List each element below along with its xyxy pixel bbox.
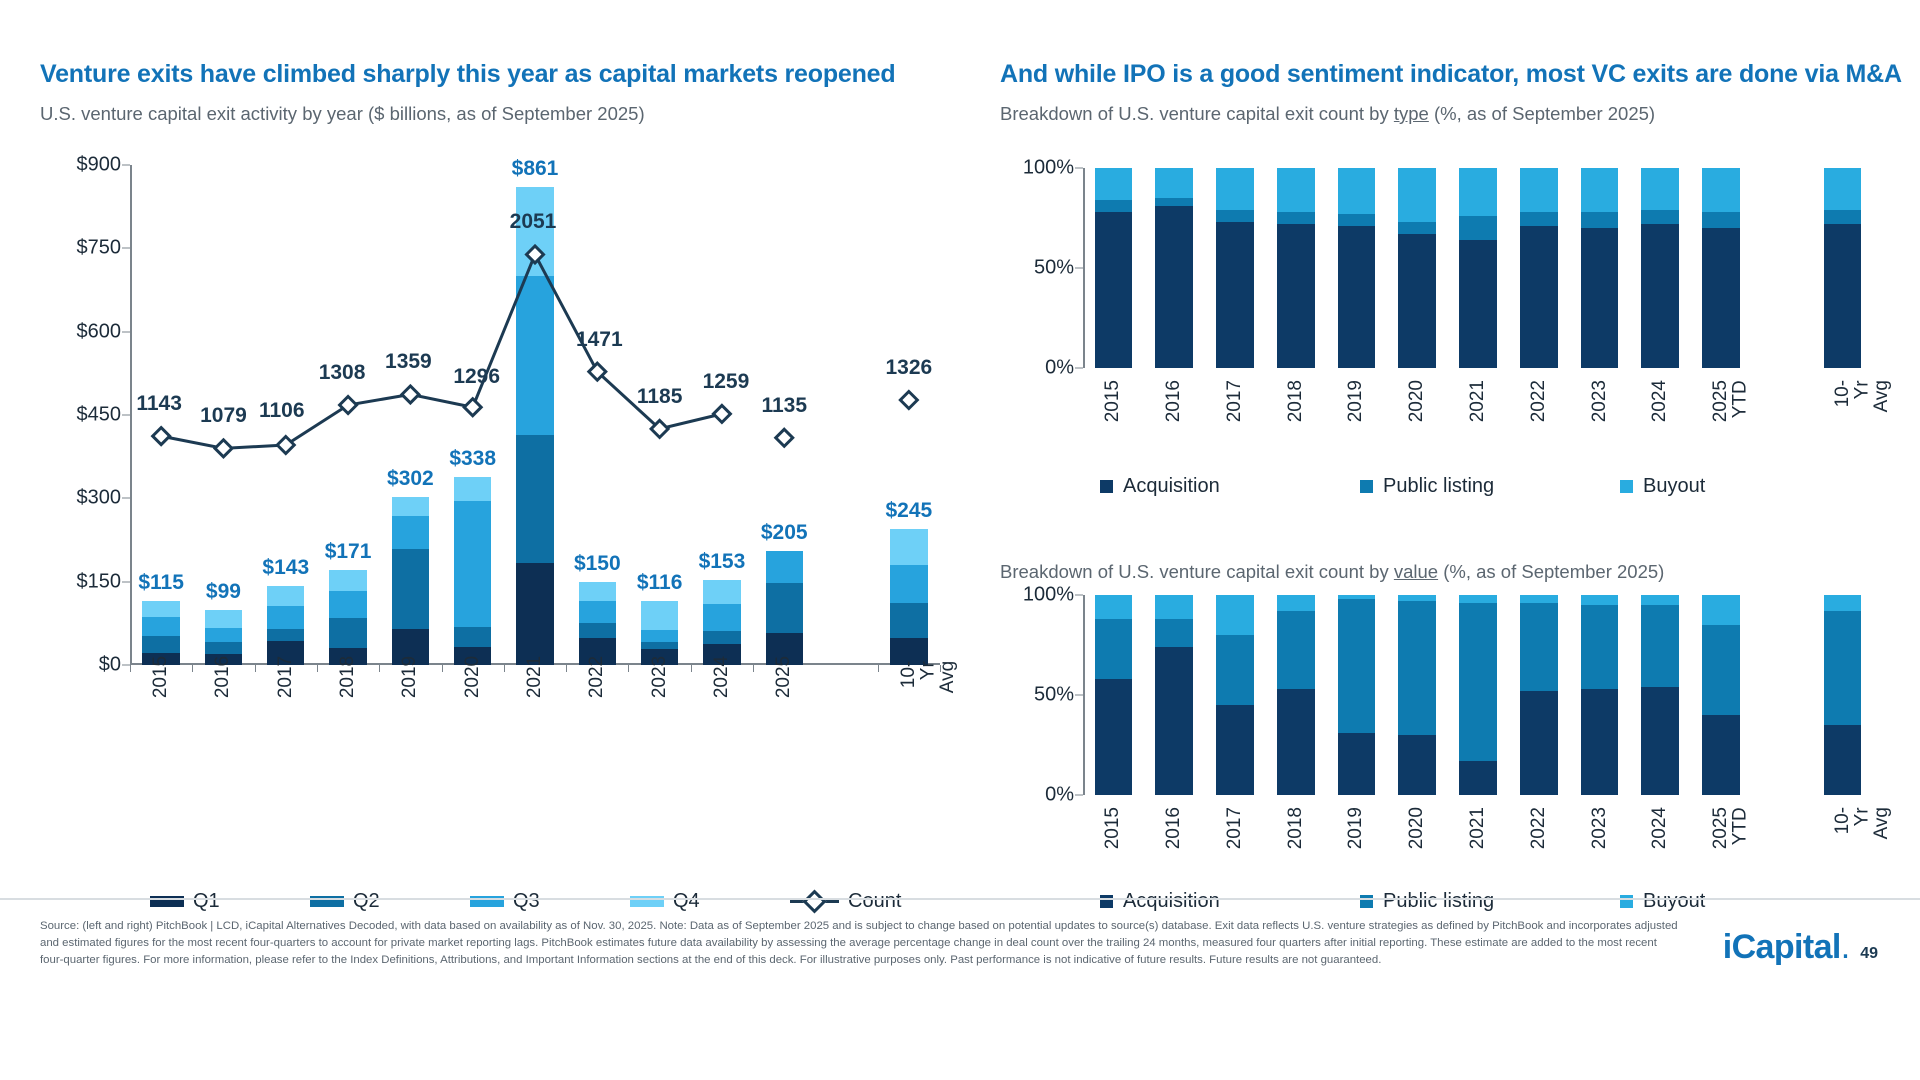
legend-label: Acquisition xyxy=(1123,890,1220,913)
bar-value-label: $143 xyxy=(262,556,309,580)
bar-segment-public-listing xyxy=(1216,635,1254,705)
y-tick xyxy=(122,248,130,249)
y-tick xyxy=(1075,268,1083,269)
bar-value-label: $150 xyxy=(574,552,621,576)
bar-segment-q2 xyxy=(766,583,803,632)
left-panel: Venture exits have climbed sharply this … xyxy=(40,60,970,890)
bar-segment-public-listing xyxy=(1155,619,1193,647)
left-chart-title: Venture exits have climbed sharply this … xyxy=(40,60,970,89)
x-axis-label: 2017 xyxy=(1225,807,1245,849)
bar-segment-acquisition xyxy=(1338,226,1376,368)
legend-label: Q1 xyxy=(193,890,220,913)
y-axis-line xyxy=(130,165,132,665)
bar-segment-q3 xyxy=(392,516,429,549)
bar-segment-buyout xyxy=(1155,168,1193,198)
bar xyxy=(1095,168,1133,368)
y-tick xyxy=(122,665,130,666)
bar-segment-public-listing xyxy=(1702,625,1740,715)
bar-segment-acquisition xyxy=(1581,689,1619,795)
subtitle-part-a: Breakdown of U.S. venture capital exit c… xyxy=(1000,561,1394,582)
bar-segment-public-listing xyxy=(1702,212,1740,228)
x-axis-label: 2018 xyxy=(1286,807,1306,849)
legend-swatch-public-listing xyxy=(1360,895,1373,908)
bar xyxy=(1641,595,1679,795)
bar-segment-buyout xyxy=(1824,168,1862,210)
bar-segment-public-listing xyxy=(1459,216,1497,240)
count-value-label: 1471 xyxy=(576,328,623,352)
x-axis-label: 2020 xyxy=(1407,380,1427,422)
bar-segment-buyout xyxy=(1095,168,1133,200)
bar-segment-acquisition xyxy=(1095,679,1133,795)
bar-segment-q2 xyxy=(205,642,242,654)
bar-segment-buyout xyxy=(1824,595,1862,611)
x-axis-label: 2023 xyxy=(650,656,670,698)
bar-segment-q2 xyxy=(329,618,366,648)
y-axis-label: 50% xyxy=(1034,257,1074,280)
legend-swatch-acquisition xyxy=(1100,895,1113,908)
bar-segment-buyout xyxy=(1702,168,1740,212)
count-value-label: 1326 xyxy=(885,356,932,380)
bar-segment-buyout xyxy=(1581,168,1619,212)
y-tick xyxy=(1075,368,1083,369)
bar-segment-buyout xyxy=(1338,595,1376,599)
x-axis-label: 2021 xyxy=(1468,380,1488,422)
bar-segment-public-listing xyxy=(1277,611,1315,689)
bar xyxy=(1338,595,1376,795)
bar xyxy=(1155,595,1193,795)
bar-segment-public-listing xyxy=(1095,200,1133,212)
bar-segment-public-listing xyxy=(1520,603,1558,691)
bar-segment-q4 xyxy=(329,570,366,591)
x-tick xyxy=(255,665,256,672)
bar xyxy=(1095,595,1133,795)
bar-segment-q3 xyxy=(703,604,740,631)
bar-segment-acquisition xyxy=(1641,687,1679,795)
bar-segment-q4 xyxy=(890,529,927,565)
x-axis-label: 2015 xyxy=(1103,380,1123,422)
bar xyxy=(1520,168,1558,368)
x-axis-label: 2016 xyxy=(1164,807,1184,849)
exit-count-by-value-chart: 0%50%100%2015201620172018201920202021202… xyxy=(1083,595,1873,795)
bar-value-label: $205 xyxy=(761,521,808,545)
bar-segment-q4 xyxy=(205,610,242,628)
bar xyxy=(1216,595,1254,795)
x-axis-label: 2022 xyxy=(1529,807,1549,849)
bar-segment-acquisition xyxy=(1338,733,1376,795)
bar-segment-acquisition xyxy=(1277,224,1315,368)
bar-value-label: $99 xyxy=(206,580,241,604)
bar-segment-public-listing xyxy=(1338,214,1376,226)
bar xyxy=(1520,595,1558,795)
legend-label: Buyout xyxy=(1643,475,1705,498)
y-axis-label: 0% xyxy=(1045,784,1074,807)
bar-segment-buyout xyxy=(1216,168,1254,210)
x-axis-label: 10-YrAvg xyxy=(1833,380,1892,412)
bar xyxy=(267,586,304,665)
bar-segment-q3 xyxy=(329,591,366,618)
line-segment-right xyxy=(825,900,839,903)
legend-item-buyout: Buyout xyxy=(1620,890,1705,913)
bar-segment-public-listing xyxy=(1824,210,1862,224)
brand-dot: . xyxy=(1841,928,1850,967)
legend-item-acquisition: Acquisition xyxy=(1100,890,1220,913)
x-axis-label: 2020 xyxy=(1407,807,1427,849)
bar-segment-q3 xyxy=(454,501,491,627)
bar xyxy=(1824,595,1862,795)
bar-segment-public-listing xyxy=(1155,198,1193,206)
bar-segment-buyout xyxy=(1641,595,1679,605)
bar-segment-buyout xyxy=(1459,168,1497,216)
bar xyxy=(454,477,491,665)
x-tick xyxy=(130,665,131,672)
x-axis-label: 2017 xyxy=(276,656,296,698)
bar-segment-q4 xyxy=(703,580,740,604)
brand-logo: iCapital . 49 xyxy=(1723,928,1878,967)
legend-item-q4: Q4 xyxy=(630,890,700,913)
bar xyxy=(1824,168,1862,368)
legend-label: Q4 xyxy=(673,890,700,913)
x-tick xyxy=(753,665,754,672)
y-axis-label: $750 xyxy=(77,237,122,260)
x-axis-label: 2024 xyxy=(1650,380,1670,422)
bar-segment-acquisition xyxy=(1459,761,1497,795)
y-axis-line xyxy=(1083,168,1085,368)
count-marker xyxy=(589,363,606,380)
y-tick xyxy=(122,165,130,166)
x-axis-label: 2021 xyxy=(525,656,545,698)
page-number: 49 xyxy=(1860,945,1878,963)
bar-segment-acquisition xyxy=(1824,224,1862,368)
bar-segment-q2 xyxy=(579,623,616,637)
bar-segment-buyout xyxy=(1155,595,1193,619)
legend-label: Count xyxy=(848,890,901,913)
bar-segment-q2 xyxy=(267,629,304,641)
x-tick xyxy=(192,665,193,672)
legend-item-public-listing: Public listing xyxy=(1360,890,1494,913)
x-tick xyxy=(628,665,629,672)
legend-swatch-buyout xyxy=(1620,895,1633,908)
bar-segment-buyout xyxy=(1520,595,1558,603)
legend-item-count: Count xyxy=(790,890,901,913)
subtitle-part-b: (%, as of September 2025) xyxy=(1429,103,1655,124)
subtitle-underlined-type: type xyxy=(1394,103,1429,124)
count-marker xyxy=(776,429,793,446)
bar xyxy=(1216,168,1254,368)
bar-segment-acquisition xyxy=(1398,735,1436,795)
legend-label: Public listing xyxy=(1383,890,1494,913)
y-axis-label: $900 xyxy=(77,154,122,177)
bar-segment-buyout xyxy=(1398,168,1436,222)
bar-segment-public-listing xyxy=(1398,222,1436,234)
bar-value-label: $115 xyxy=(138,571,184,595)
bar-segment-public-listing xyxy=(1520,212,1558,226)
bar-segment-buyout xyxy=(1581,595,1619,605)
bar-segment-acquisition xyxy=(1095,212,1133,368)
bar-segment-q1 xyxy=(516,563,553,665)
subtitle-underlined-value: value xyxy=(1394,561,1438,582)
legend-item-public-listing: Public listing xyxy=(1360,475,1494,498)
x-axis-label: 2025 xyxy=(774,656,794,698)
bar-value-label: $116 xyxy=(637,571,683,595)
y-tick xyxy=(122,415,130,416)
count-marker xyxy=(900,392,917,409)
bar-segment-q3 xyxy=(641,630,678,642)
y-tick xyxy=(1075,695,1083,696)
bar-segment-q3 xyxy=(579,601,616,623)
count-value-label: 1308 xyxy=(319,361,366,385)
bar-segment-q4 xyxy=(267,586,304,607)
y-tick xyxy=(1075,168,1083,169)
bar xyxy=(1277,595,1315,795)
bar-value-label: $861 xyxy=(512,157,559,181)
bar xyxy=(1277,168,1315,368)
x-axis-label: 2022 xyxy=(1529,380,1549,422)
y-axis-label: 0% xyxy=(1045,357,1074,380)
bar-segment-q2 xyxy=(454,627,491,648)
y-axis-label: 100% xyxy=(1023,157,1074,180)
legend-swatch-public-listing xyxy=(1360,480,1373,493)
bar-segment-q4 xyxy=(392,497,429,515)
legend-label: Q3 xyxy=(513,890,540,913)
bar-value-label: $302 xyxy=(387,467,434,491)
bar xyxy=(1398,595,1436,795)
right-chart-title: And while IPO is a good sentiment indica… xyxy=(1000,60,1880,89)
x-axis-label: 2025YTD xyxy=(1711,380,1750,422)
bar-segment-q3 xyxy=(205,628,242,642)
bar-segment-acquisition xyxy=(1581,228,1619,368)
brand-name: iCapital xyxy=(1723,928,1841,967)
bar-value-label: $153 xyxy=(699,550,746,574)
count-value-label: 2051 xyxy=(510,210,557,234)
bar-segment-public-listing xyxy=(1216,210,1254,222)
bar-segment-acquisition xyxy=(1216,222,1254,368)
bar-value-label: $338 xyxy=(449,447,496,471)
bar-segment-q3 xyxy=(766,551,803,583)
bar-segment-acquisition xyxy=(1520,226,1558,368)
legend-label: Public listing xyxy=(1383,475,1494,498)
bar-segment-public-listing xyxy=(1277,212,1315,224)
y-axis-line xyxy=(1083,595,1085,795)
legend-label: Buyout xyxy=(1643,890,1705,913)
x-axis-label: 2017 xyxy=(1225,380,1245,422)
x-tick xyxy=(504,665,505,672)
bar xyxy=(1581,168,1619,368)
bar-segment-q3 xyxy=(516,276,553,435)
count-marker xyxy=(651,420,668,437)
subtitle-part-a: Breakdown of U.S. venture capital exit c… xyxy=(1000,103,1394,124)
bar-segment-acquisition xyxy=(1277,689,1315,795)
bar-segment-public-listing xyxy=(1095,619,1133,679)
bar-segment-public-listing xyxy=(1581,605,1619,689)
x-axis-label: 2015 xyxy=(151,656,171,698)
bar-segment-acquisition xyxy=(1155,647,1193,795)
bar-segment-buyout xyxy=(1277,595,1315,611)
x-tick xyxy=(691,665,692,672)
x-tick xyxy=(379,665,380,672)
y-axis-label: 100% xyxy=(1023,584,1074,607)
x-axis-label: 2024 xyxy=(1650,807,1670,849)
x-axis-label: 2023 xyxy=(1590,380,1610,422)
bar xyxy=(1702,168,1740,368)
bar-segment-q2 xyxy=(516,435,553,563)
bar-segment-acquisition xyxy=(1459,240,1497,368)
y-axis-label: $300 xyxy=(77,487,122,510)
x-axis-label: 2019 xyxy=(400,656,420,698)
bar-segment-q4 xyxy=(641,601,678,630)
bar-value-label: $245 xyxy=(885,499,932,523)
x-tick xyxy=(878,665,879,672)
x-axis-label: 2023 xyxy=(1590,807,1610,849)
count-marker-icon xyxy=(790,893,839,910)
bar xyxy=(1459,595,1497,795)
bar-segment-buyout xyxy=(1277,168,1315,212)
subtitle-part-b: (%, as of September 2025) xyxy=(1438,561,1664,582)
footer-divider xyxy=(0,898,1920,900)
y-axis-label: $450 xyxy=(77,404,122,427)
bar xyxy=(1338,168,1376,368)
x-tick xyxy=(317,665,318,672)
x-axis-label: 2024 xyxy=(712,656,732,698)
bar-segment-acquisition xyxy=(1216,705,1254,795)
y-tick xyxy=(1075,595,1083,596)
bar-segment-q3 xyxy=(142,617,179,636)
x-tick xyxy=(566,665,567,672)
count-value-label: 1106 xyxy=(259,399,305,423)
bar-segment-buyout xyxy=(1520,168,1558,212)
x-axis-label: 10-YrAvg xyxy=(899,661,958,693)
bar-segment-public-listing xyxy=(1459,603,1497,761)
x-axis-label: 2019 xyxy=(1346,807,1366,849)
bar xyxy=(766,551,803,665)
legend-swatch-buyout xyxy=(1620,480,1633,493)
bar xyxy=(1641,168,1679,368)
bar-segment-acquisition xyxy=(1824,725,1862,795)
bar xyxy=(1581,595,1619,795)
bar-segment-q2 xyxy=(890,603,927,637)
x-axis-label: 2016 xyxy=(213,656,233,698)
bar-segment-q4 xyxy=(579,582,616,601)
bar-segment-q2 xyxy=(641,642,678,649)
bar xyxy=(329,570,366,665)
bar xyxy=(1459,168,1497,368)
count-marker xyxy=(153,428,170,445)
count-value-label: 1359 xyxy=(385,350,432,374)
right-chart-type-subtitle: Breakdown of U.S. venture capital exit c… xyxy=(1000,103,1880,125)
count-value-label: 1259 xyxy=(703,370,750,394)
bar-segment-q2 xyxy=(703,631,740,644)
x-axis-label: 2018 xyxy=(338,656,358,698)
bar-segment-buyout xyxy=(1702,595,1740,625)
bar-segment-buyout xyxy=(1095,595,1133,619)
legend-item-acquisition: Acquisition xyxy=(1100,475,1220,498)
y-tick xyxy=(1075,795,1083,796)
count-marker xyxy=(215,440,232,457)
bar-segment-public-listing xyxy=(1824,611,1862,725)
legend-item-q3: Q3 xyxy=(470,890,540,913)
bar-segment-q4 xyxy=(454,477,491,501)
x-axis-label: 2018 xyxy=(1286,380,1306,422)
exit-activity-chart: $0$150$300$450$600$750$900$115$99$143$17… xyxy=(130,165,940,665)
x-axis-label: 2022 xyxy=(587,656,607,698)
bar-segment-acquisition xyxy=(1702,228,1740,368)
bar-segment-acquisition xyxy=(1641,224,1679,368)
bar xyxy=(1398,168,1436,368)
bar-segment-q2 xyxy=(142,636,179,653)
footer-disclaimer: Source: (left and right) PitchBook | LCD… xyxy=(40,918,1680,969)
y-tick xyxy=(122,498,130,499)
x-axis-label: 10-YrAvg xyxy=(1833,807,1892,839)
bar-segment-q4 xyxy=(142,601,179,617)
bar xyxy=(392,497,429,665)
bar-segment-public-listing xyxy=(1398,601,1436,735)
bar-segment-acquisition xyxy=(1398,234,1436,368)
bar xyxy=(1155,168,1193,368)
exit-count-by-type-chart: 0%50%100%2015201620172018201920202021202… xyxy=(1083,168,1873,368)
count-value-label: 1143 xyxy=(136,392,182,416)
count-marker xyxy=(340,397,357,414)
bar-segment-public-listing xyxy=(1641,210,1679,224)
left-chart-subtitle: U.S. venture capital exit activity by ye… xyxy=(40,103,970,125)
x-axis-label: 2019 xyxy=(1346,380,1366,422)
y-axis-label: $600 xyxy=(77,320,122,343)
bar-segment-public-listing xyxy=(1338,599,1376,733)
bar xyxy=(703,580,740,665)
bar-segment-buyout xyxy=(1641,168,1679,210)
bar-segment-acquisition xyxy=(1155,206,1193,368)
x-axis-label: 2021 xyxy=(1468,807,1488,849)
bar-segment-q2 xyxy=(392,549,429,630)
bar-segment-buyout xyxy=(1398,595,1436,601)
right-panel: And while IPO is a good sentiment indica… xyxy=(1000,60,1880,890)
bar-segment-buyout xyxy=(1216,595,1254,635)
bar xyxy=(579,582,616,665)
legend-item-q1: Q1 xyxy=(150,890,220,913)
y-axis-label: $150 xyxy=(77,570,122,593)
bar-value-label: $171 xyxy=(325,540,372,564)
count-marker xyxy=(713,405,730,422)
y-tick xyxy=(122,331,130,332)
bar xyxy=(1702,595,1740,795)
legend-item-buyout: Buyout xyxy=(1620,475,1705,498)
bar-segment-q3 xyxy=(890,565,927,603)
bar-segment-public-listing xyxy=(1641,605,1679,687)
count-value-label: 1135 xyxy=(761,394,807,418)
bar-segment-buyout xyxy=(1338,168,1376,214)
legend-swatch-acquisition xyxy=(1100,480,1113,493)
x-axis-label: 2020 xyxy=(463,656,483,698)
legend-label: Acquisition xyxy=(1123,475,1220,498)
y-tick xyxy=(122,581,130,582)
bar xyxy=(890,529,927,665)
diamond-icon xyxy=(802,889,826,913)
count-marker xyxy=(464,399,481,416)
bar xyxy=(516,187,553,665)
legend-item-q2: Q2 xyxy=(310,890,380,913)
bar-segment-public-listing xyxy=(1581,212,1619,228)
bar-segment-q3 xyxy=(267,606,304,629)
count-value-label: 1296 xyxy=(453,365,500,389)
x-axis-label: 2015 xyxy=(1103,807,1123,849)
slide: Venture exits have climbed sharply this … xyxy=(0,0,1920,1080)
count-marker xyxy=(277,437,294,454)
x-tick xyxy=(442,665,443,672)
count-value-label: 1079 xyxy=(200,404,247,428)
x-axis-label: 2016 xyxy=(1164,380,1184,422)
right-chart-value-subtitle: Breakdown of U.S. venture capital exit c… xyxy=(1000,561,1664,583)
legend-label: Q2 xyxy=(353,890,380,913)
y-axis-label: $0 xyxy=(99,654,121,677)
y-axis-label: 50% xyxy=(1034,684,1074,707)
